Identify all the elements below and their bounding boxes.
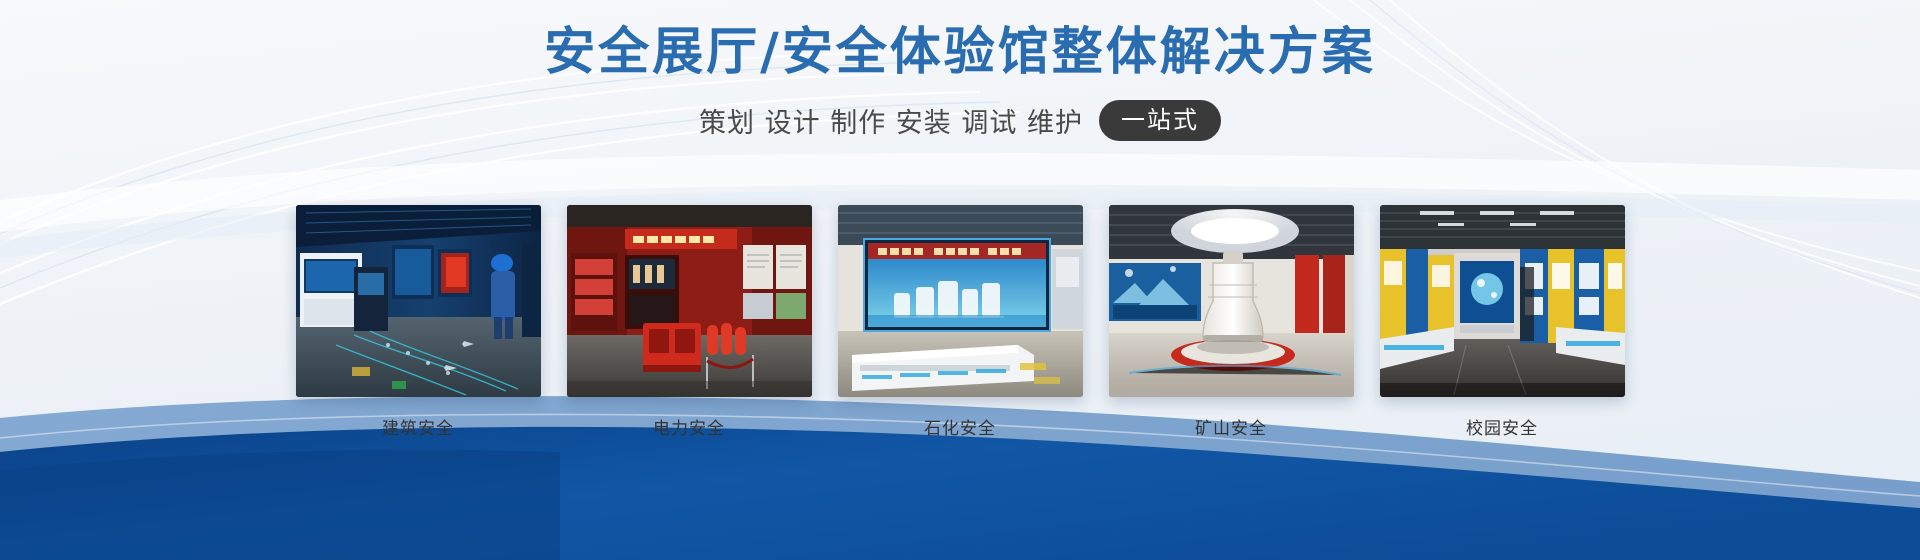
power-hall-image bbox=[567, 205, 812, 397]
gallery-item-caption: 电力安全 bbox=[567, 414, 812, 439]
gallery: 建筑安全 bbox=[0, 205, 1920, 439]
gallery-item[interactable]: 校园安全 bbox=[1380, 205, 1625, 439]
page-title: 安全展厅/安全体验馆整体解决方案 bbox=[0, 24, 1920, 83]
safety-exhibition-banner: 安全展厅/安全体验馆整体解决方案 策划 设计 制作 安装 调试 维护 一站式 bbox=[0, 0, 1920, 560]
gallery-item-caption: 石化安全 bbox=[838, 414, 1083, 439]
gallery-item[interactable]: 电力安全 bbox=[567, 205, 812, 439]
thumbnail-campus-safety[interactable] bbox=[1380, 205, 1625, 397]
gallery-item[interactable]: 石化安全 bbox=[838, 205, 1083, 439]
construction-hall-image bbox=[296, 205, 541, 397]
one-stop-badge: 一站式 bbox=[1099, 100, 1221, 141]
thumbnail-mine-safety[interactable] bbox=[1109, 205, 1354, 397]
gallery-item[interactable]: 建筑安全 bbox=[296, 205, 541, 439]
gallery-item[interactable]: 矿山安全 bbox=[1109, 205, 1354, 439]
petrochemical-hall-image bbox=[838, 205, 1083, 397]
gallery-item-caption: 校园安全 bbox=[1380, 414, 1625, 439]
campus-hall-image bbox=[1380, 205, 1625, 397]
thumbnail-petrochemical-safety[interactable] bbox=[838, 205, 1083, 397]
service-steps-text: 策划 设计 制作 安装 调试 维护 bbox=[699, 101, 1083, 140]
thumbnail-electric-power-safety[interactable] bbox=[567, 205, 812, 397]
gallery-item-caption: 矿山安全 bbox=[1109, 414, 1354, 439]
thumbnail-construction-safety[interactable] bbox=[296, 205, 541, 397]
mine-hall-image bbox=[1109, 205, 1354, 397]
subtitle-row: 策划 设计 制作 安装 调试 维护 一站式 bbox=[0, 100, 1920, 141]
gallery-item-caption: 建筑安全 bbox=[296, 414, 541, 439]
